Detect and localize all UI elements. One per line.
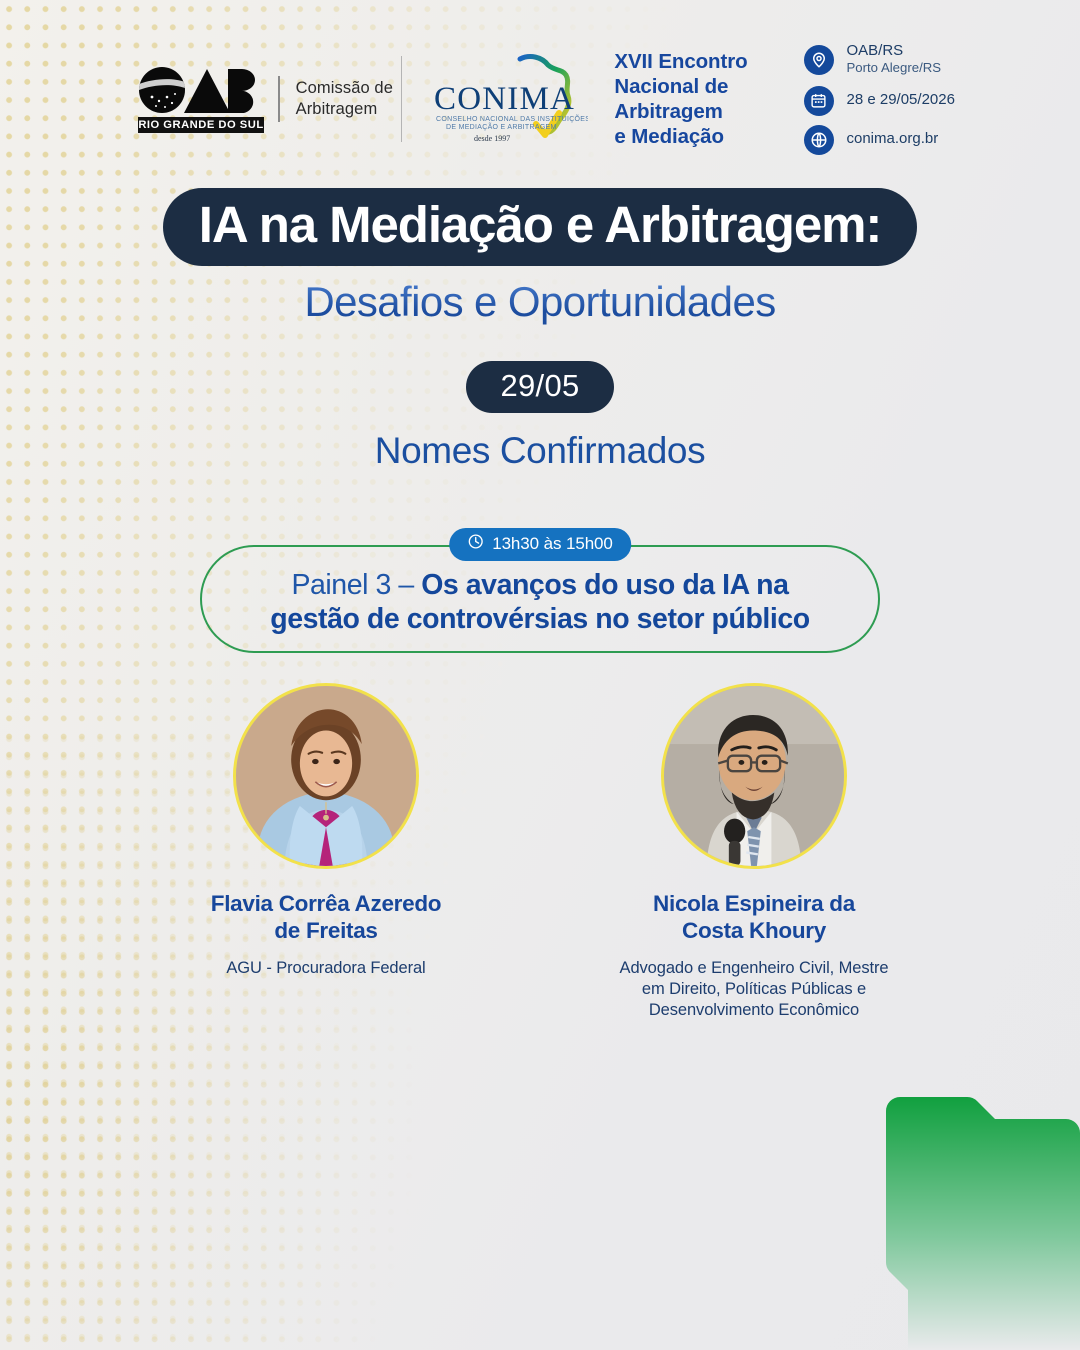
speaker-name: Flavia Corrêa Azeredo de Freitas: [176, 890, 476, 944]
calendar-icon: [804, 86, 834, 116]
svg-text:CONSELHO NACIONAL DAS INSTITUI: CONSELHO NACIONAL DAS INSTITUIÇÕES: [436, 114, 588, 123]
header-divider: [401, 56, 402, 142]
speaker-role-line-3: Desenvolvimento Econômico: [649, 1001, 859, 1019]
panel-prefix: Painel 3 –: [291, 569, 421, 601]
speaker-name-line-1: Flavia Corrêa Azeredo: [211, 891, 441, 916]
avatar: [661, 683, 847, 869]
speaker-role-line-2: em Direito, Políticas Públicas e: [642, 980, 866, 998]
page-subtitle: Desafios e Oportunidades: [0, 278, 1080, 326]
speaker-card: Nicola Espineira da Costa Khoury Advogad…: [604, 683, 904, 1021]
panel-title-line-2: gestão de controvérsias no setor público: [270, 603, 809, 635]
speaker-role: AGU - Procuradora Federal: [176, 958, 476, 979]
svg-text:CONIMA: CONIMA: [434, 81, 575, 117]
speaker-role-line-1: AGU - Procuradora Federal: [226, 959, 425, 977]
contact-website[interactable]: conima.org.br: [804, 125, 955, 155]
section-heading: Nomes Confirmados: [0, 430, 1080, 472]
portrait-man-image: [664, 686, 844, 866]
event-title-line-1: XVII Encontro: [614, 49, 747, 74]
oab-glyph-icon: [138, 66, 264, 114]
time-badge-label: 13h30 às 15h00: [492, 534, 613, 554]
header: RIO GRANDE DO SUL Comissão de Arbitragem: [0, 0, 1080, 130]
contact-location-line-2: Porto Alegre/RS: [847, 60, 942, 75]
avatar: [233, 683, 419, 869]
oab-logo: RIO GRANDE DO SUL Comissão de Arbitragem: [138, 66, 393, 133]
oab-commission-label: Comissão de Arbitragem: [296, 78, 393, 120]
oab-state-label: RIO GRANDE DO SUL: [138, 117, 264, 133]
speakers-list: Flavia Corrêa Azeredo de Freitas AGU - P…: [0, 683, 1080, 1021]
panel-title: Painel 3 – Os avanços do uso da IA na ge…: [244, 569, 835, 636]
event-title-line-2: Nacional de: [614, 74, 747, 99]
svg-text:DE MEDIAÇÃO E ARBITRAGEM: DE MEDIAÇÃO E ARBITRAGEM: [446, 122, 557, 131]
page-title: IA na Mediação e Arbitragem:: [199, 198, 881, 252]
date-badge: 29/05: [466, 361, 613, 413]
time-badge: 13h30 às 15h00: [449, 528, 631, 561]
main-title-pill: IA na Mediação e Arbitragem:: [163, 188, 917, 266]
panel-section: Painel 3 – Os avanços do uso da IA na ge…: [0, 528, 1080, 653]
contact-location-text: OAB/RS Porto Alegre/RS: [847, 43, 942, 77]
logo-divider: [278, 76, 280, 122]
location-pin-icon: [804, 45, 834, 75]
contact-info-list: OAB/RS Porto Alegre/RS 28 e 29/05/2026: [804, 43, 955, 155]
globe-icon: [804, 125, 834, 155]
contact-location: OAB/RS Porto Alegre/RS: [804, 43, 955, 77]
panel-box: Painel 3 – Os avanços do uso da IA na ge…: [200, 545, 880, 653]
event-title-line-4: e Mediação: [614, 124, 747, 149]
speaker-card: Flavia Corrêa Azeredo de Freitas AGU - P…: [176, 683, 476, 1021]
contact-website-text: conima.org.br: [847, 131, 939, 148]
green-decorative-shape: [850, 1075, 1080, 1350]
contact-date: 28 e 29/05/2026: [804, 86, 955, 116]
date-badge-label: 29/05: [500, 368, 579, 404]
event-title: XVII Encontro Nacional de Arbitragem e M…: [614, 49, 747, 149]
portrait-woman-image: [236, 686, 416, 866]
contact-date-text: 28 e 29/05/2026: [847, 92, 955, 109]
speaker-role: Advogado e Engenheiro Civil, Mestre em D…: [604, 958, 904, 1021]
svg-text:desde 1997: desde 1997: [474, 134, 510, 143]
speaker-name-line-1: Nicola Espineira da: [653, 891, 855, 916]
speaker-name-line-2: Costa Khoury: [682, 918, 826, 943]
speaker-role-line-1: Advogado e Engenheiro Civil, Mestre: [620, 959, 889, 977]
conima-logo: CONIMA CONSELHO NACIONAL DAS INSTITUIÇÕE…: [428, 51, 588, 148]
speaker-name: Nicola Espineira da Costa Khoury: [604, 890, 904, 944]
speaker-name-line-2: de Freitas: [274, 918, 377, 943]
panel-title-line-1: Os avanços do uso da IA na: [421, 569, 788, 601]
event-title-line-3: Arbitragem: [614, 99, 747, 124]
oab-mark: RIO GRANDE DO SUL: [138, 66, 264, 133]
contact-location-line-1: OAB/RS: [847, 42, 904, 59]
commission-line-2: Arbitragem: [296, 99, 393, 120]
commission-line-1: Comissão de: [296, 78, 393, 99]
clock-icon: [467, 533, 484, 555]
